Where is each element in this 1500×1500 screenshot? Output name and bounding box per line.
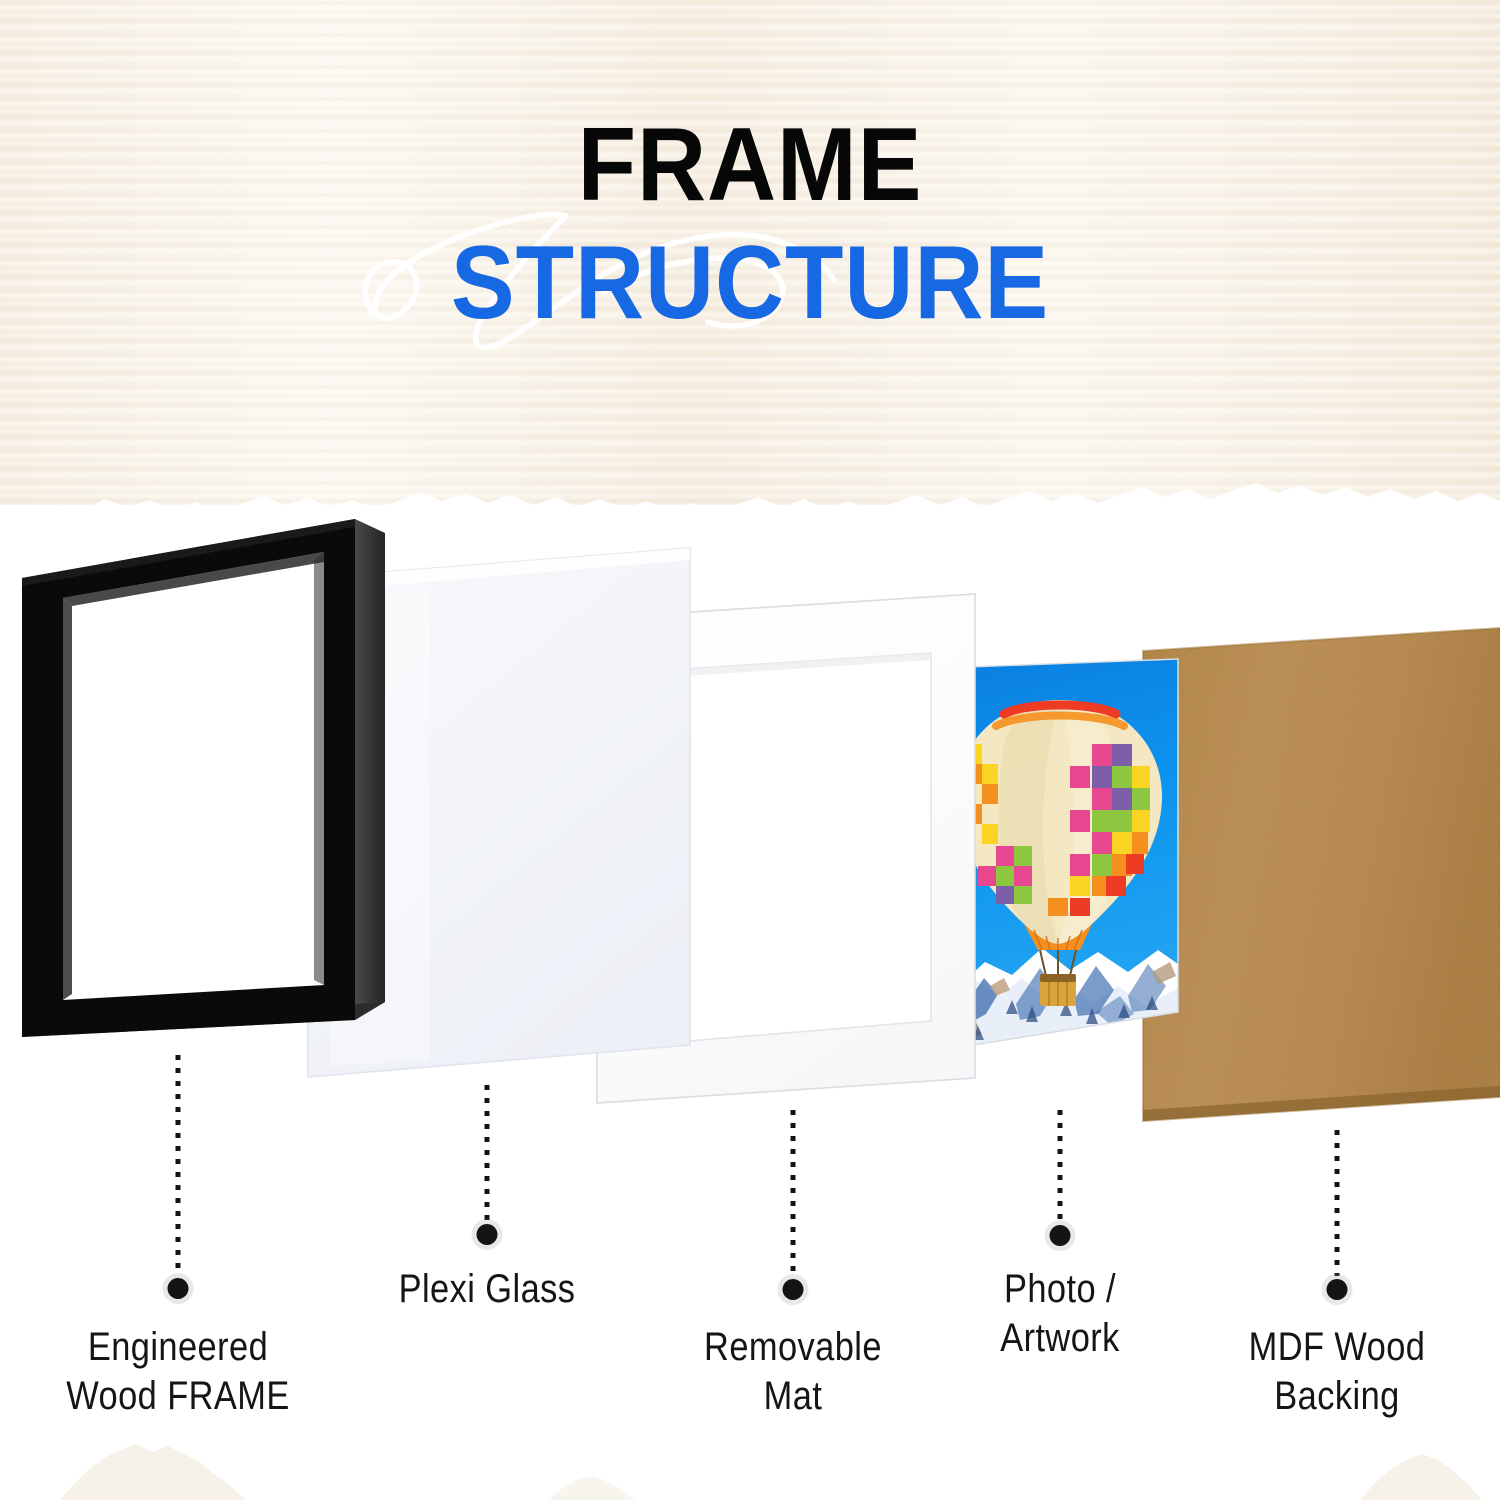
- title-line-frame: FRAME: [60, 116, 1440, 216]
- leader-removable-mat: [773, 1110, 813, 1330]
- leader-frame: [158, 1055, 198, 1305]
- leader-dotted-line: [1335, 1130, 1340, 1276]
- leader-dotted-line: [791, 1110, 796, 1276]
- leader-end-dot: [1050, 1225, 1071, 1246]
- leader-dotted-line: [1058, 1110, 1063, 1222]
- leader-photo-artwork: [1040, 1110, 1080, 1280]
- layer-engineered-wood-frame: [22, 519, 385, 1037]
- title-line-structure: STRUCTURE: [60, 230, 1440, 336]
- leader-mdf-wood-backing: [1317, 1130, 1357, 1340]
- leader-end-dot: [477, 1224, 498, 1245]
- label-plexi-glass: Plexi Glass: [341, 1265, 633, 1314]
- page-title: FRAME STRUCTURE: [0, 116, 1500, 336]
- label-mdf-wood-backing: MDF Wood Backing: [1199, 1323, 1474, 1421]
- label-engineered-wood-frame: Engineered Wood FRAME: [25, 1323, 331, 1421]
- infographic-canvas: FRAME STRUCTURE: [0, 0, 1500, 1500]
- label-photo-artwork: Photo / Artwork: [922, 1265, 1197, 1363]
- leader-end-dot: [783, 1279, 804, 1300]
- layer-mdf-wood-backing: [1143, 628, 1500, 1121]
- leader-end-dot: [168, 1278, 189, 1299]
- leader-dotted-line: [485, 1085, 490, 1221]
- leader-end-dot: [1327, 1279, 1348, 1300]
- leader-dotted-line: [176, 1055, 181, 1275]
- label-removable-mat: Removable Mat: [647, 1323, 939, 1421]
- leader-plexi-glass: [467, 1085, 507, 1275]
- layer-photo-artwork: [943, 659, 1178, 1050]
